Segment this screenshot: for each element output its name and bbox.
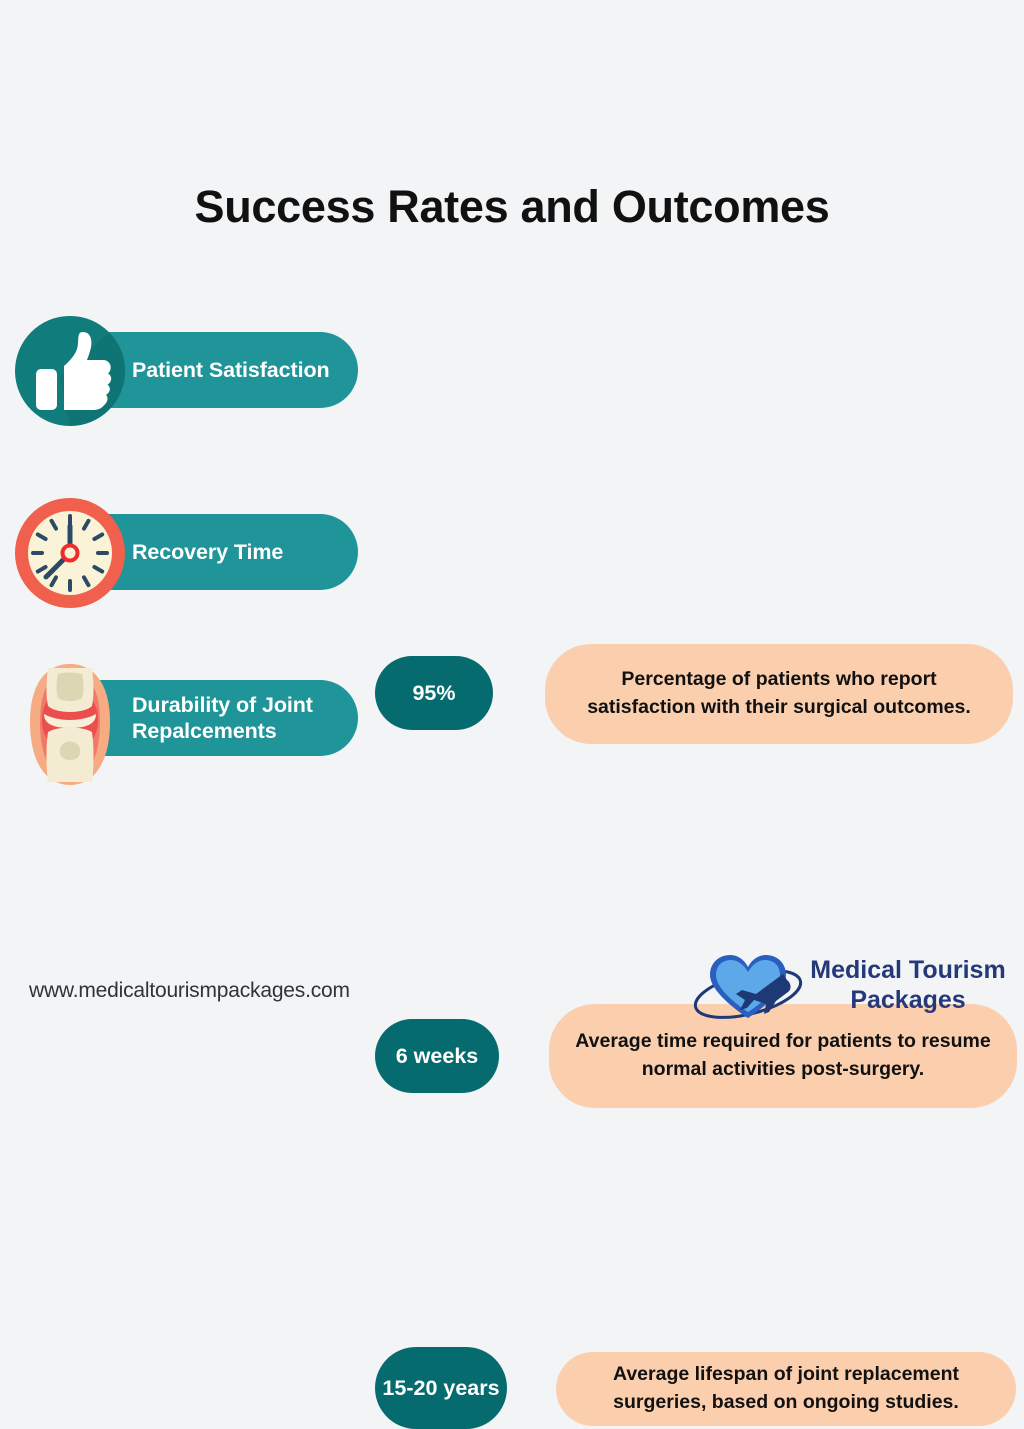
metric-description-text: Average lifespan of joint replacement su…	[582, 1361, 990, 1416]
metric-value-pill: 15-20 years	[375, 1347, 507, 1429]
footer-website-url[interactable]: www.medicaltourismpackages.com	[29, 979, 350, 1003]
metric-description-text: Average time required for patients to re…	[575, 1028, 991, 1083]
metric-value-text: 6 weeks	[396, 1043, 478, 1069]
metric-label-text: Recovery Time	[132, 539, 283, 565]
brand-logo-text: Medical Tourism Packages	[808, 956, 1008, 1015]
brand-logo-line2: Packages	[808, 986, 1008, 1016]
page-title: Success Rates and Outcomes	[0, 181, 1024, 233]
metric-row-patient-satisfaction: Patient Satisfaction 95% Percentage of p…	[0, 314, 1024, 444]
thumbs-up-icon	[14, 314, 126, 429]
metric-row-recovery-time: Recovery Time	[0, 496, 1024, 626]
clock-icon	[14, 496, 126, 611]
metric-value-pill: 6 weeks	[375, 1019, 499, 1093]
heart-airplane-orbit-logo-icon	[690, 950, 806, 1022]
label-group: Recovery Time	[14, 496, 354, 626]
label-group: Patient Satisfaction	[14, 314, 354, 444]
metric-label-text: Durability of Joint Repalcements	[132, 692, 344, 744]
metric-label-text: Patient Satisfaction	[132, 357, 330, 383]
metric-value-text: 15-20 years	[382, 1375, 499, 1401]
metric-description-pill: Average lifespan of joint replacement su…	[556, 1352, 1016, 1426]
metric-row-joint-durability: Durability of Joint Repalcements 15-20 y…	[0, 662, 1024, 792]
knee-joint-icon	[14, 662, 126, 777]
brand-logo[interactable]: Medical Tourism Packages	[690, 948, 1010, 1024]
label-group: Durability of Joint Repalcements	[14, 662, 354, 792]
brand-logo-line1: Medical Tourism	[810, 956, 1005, 984]
